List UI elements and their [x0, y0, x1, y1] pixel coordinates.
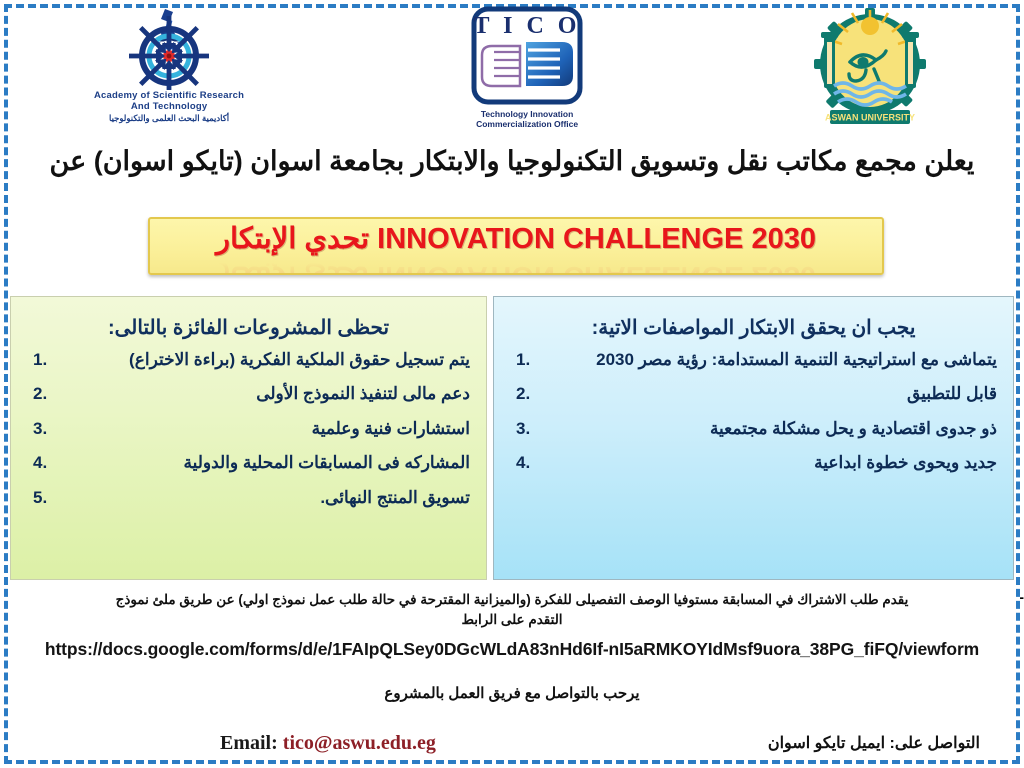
list-item: ذو جدوى اقتصادية و يحل مشكلة مجتمعية 3. — [510, 419, 997, 439]
tico-logo: T I C O — [452, 6, 602, 130]
aswan-university-emblem-icon: ASWAN UNIVERSITY — [810, 6, 930, 126]
application-form-url[interactable]: https://docs.google.com/forms/d/e/1FAIpQ… — [18, 639, 1006, 660]
benefit-text-4: المشاركه فى المسابقات المحلية والدولية — [59, 453, 470, 473]
aswan-banner-label: ASWAN UNIVERSITY — [825, 113, 915, 123]
innovation-challenge-banner: INNOVATION CHALLENGE 2030 تحدي الإبتكار … — [148, 217, 884, 275]
poster-canvas: Academy of Scientific Research And Techn… — [0, 0, 1024, 768]
criteria-num-3: 3. — [516, 419, 542, 439]
criteria-num-1: 1. — [516, 350, 542, 370]
asrt-name-ar: أكاديمية البحث العلمى والتكنولوجيا — [109, 114, 229, 123]
email-address[interactable]: tico@aswu.edu.eg — [283, 732, 436, 754]
list-item: استشارات فنية وعلمية 3. — [27, 419, 470, 439]
list-item: تسويق المنتج النهائى. 5. — [27, 488, 470, 508]
contact-bar: Email: tico@aswu.edu.eg التواصل على: ايم… — [10, 726, 1014, 760]
asrt-name-en-line2: And Technology — [131, 102, 208, 112]
benefit-num-4: 4. — [33, 453, 59, 473]
asrt-name-en-line1: Academy of Scientific Research — [94, 91, 244, 101]
list-item: يتماشى مع استراتيجية التنمية المستدامة: … — [510, 350, 997, 370]
criteria-text-3: ذو جدوى اقتصادية و يحل مشكلة مجتمعية — [542, 419, 997, 439]
list-item: جديد ويحوى خطوة ابداعية 4. — [510, 453, 997, 473]
email-label: Email: — [220, 732, 278, 754]
contact-arabic-label: التواصل على: ايميل تايكو اسوان — [768, 733, 980, 753]
criteria-box-title: يجب ان يحقق الابتكار المواصفات الاتية: — [510, 315, 997, 340]
list-item: المشاركه فى المسابقات المحلية والدولية 4… — [27, 453, 470, 473]
criteria-num-4: 4. — [516, 453, 542, 473]
application-note-line1: يقدم طلب الاشتراك في المسابقة مستوفيا ال… — [18, 590, 1006, 610]
list-item: قابل للتطبيق 2. — [510, 384, 997, 404]
email-line[interactable]: Email: tico@aswu.edu.eg — [220, 732, 436, 755]
criteria-text-2: قابل للتطبيق — [542, 384, 997, 404]
asrt-logo: Academy of Scientific Research And Techn… — [94, 6, 244, 123]
benefit-text-5: تسويق المنتج النهائى. — [59, 488, 470, 508]
logo-row: Academy of Scientific Research And Techn… — [14, 6, 1010, 132]
criteria-list: يتماشى مع استراتيجية التنمية المستدامة: … — [510, 350, 997, 474]
svg-text:T I C O: T I C O — [474, 13, 581, 39]
criteria-box: يجب ان يحقق الابتكار المواصفات الاتية: ي… — [493, 296, 1014, 580]
benefits-list: يتم تسجيل حقوق الملكية الفكرية (براءة ال… — [27, 350, 470, 508]
page-headline: يعلن مجمع مكاتب نقل وتسويق التكنولوجيا و… — [30, 146, 994, 177]
contact-team-note: يرحب بالتواصل مع فريق العمل بالمشروع — [18, 684, 1006, 702]
asrt-emblem-icon — [103, 6, 235, 90]
application-note-line2: التقدم على الرابط — [18, 610, 1006, 630]
benefit-text-3: استشارات فنية وعلمية — [59, 419, 470, 439]
tico-emblem-icon: T I C O — [452, 6, 602, 110]
banner-title-reflection: INNOVATION CHALLENGE 2030 تحدي الإبتكار — [150, 259, 882, 275]
application-note: يقدم طلب الاشتراك في المسابقة مستوفيا ال… — [18, 590, 1006, 629]
benefits-box-title: تحظى المشروعات الفائزة بالتالى: — [27, 315, 470, 340]
benefit-num-5: 5. — [33, 488, 59, 508]
benefits-box: تحظى المشروعات الفائزة بالتالى: يتم تسجي… — [10, 296, 487, 580]
tico-name-en-line2: Commercialization Office — [476, 120, 578, 130]
benefit-num-1: 1. — [33, 350, 59, 370]
benefit-num-3: 3. — [33, 419, 59, 439]
criteria-text-4: جديد ويحوى خطوة ابداعية — [542, 453, 997, 473]
benefit-text-2: دعم مالى لتنفيذ النموذج الأولى — [59, 384, 470, 404]
criteria-num-2: 2. — [516, 384, 542, 404]
aswan-university-logo: ASWAN UNIVERSITY — [810, 6, 930, 126]
list-item: دعم مالى لتنفيذ النموذج الأولى 2. — [27, 384, 470, 404]
application-note-bullet: - — [1020, 590, 1024, 605]
benefit-text-1: يتم تسجيل حقوق الملكية الفكرية (براءة ال… — [59, 350, 470, 370]
banner-title: INNOVATION CHALLENGE 2030 تحدي الإبتكار — [150, 221, 882, 256]
list-item: يتم تسجيل حقوق الملكية الفكرية (براءة ال… — [27, 350, 470, 370]
benefit-num-2: 2. — [33, 384, 59, 404]
criteria-text-1: يتماشى مع استراتيجية التنمية المستدامة: … — [542, 350, 997, 370]
